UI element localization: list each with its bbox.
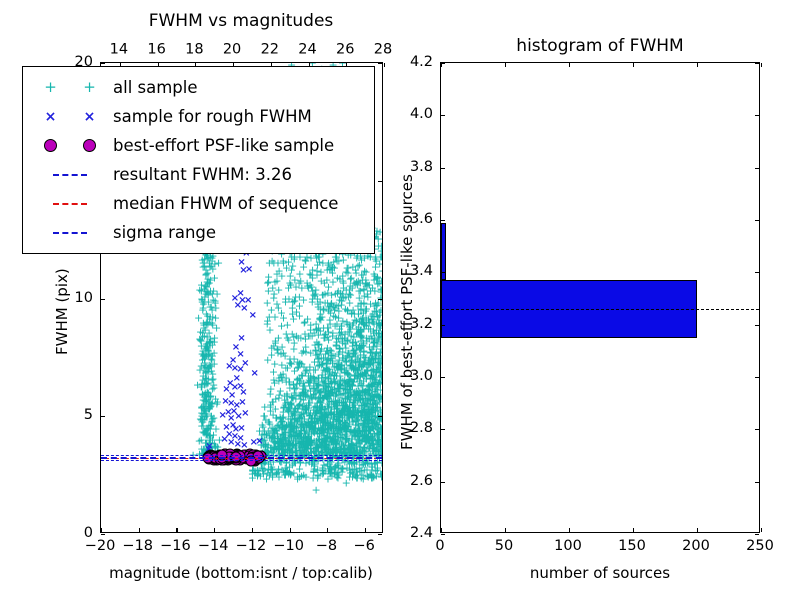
scatter-point: + <box>205 431 214 442</box>
scatter-point: + <box>281 428 290 439</box>
scatter-point: + <box>267 427 276 438</box>
scatter-point: + <box>353 431 362 442</box>
scatter-point: + <box>360 442 369 453</box>
scatter-point: + <box>204 423 213 434</box>
scatter-point: + <box>204 404 213 415</box>
scatter-point: + <box>305 330 314 341</box>
scatter-point: + <box>283 319 292 330</box>
scatter-point: + <box>319 430 328 441</box>
scatter-point: + <box>290 254 299 265</box>
scatter-point: + <box>314 322 323 333</box>
scatter-point: + <box>379 320 382 331</box>
scatter-point: + <box>297 415 306 426</box>
scatter-point: + <box>203 273 212 284</box>
scatter-point: + <box>281 467 290 478</box>
scatter-point: + <box>291 404 300 415</box>
scatter-point: + <box>328 358 337 369</box>
scatter-point: + <box>294 407 303 418</box>
scatter-point: + <box>376 292 382 303</box>
scatter-point: + <box>270 378 279 389</box>
scatter-point: + <box>200 412 209 423</box>
scatter-point: + <box>346 384 355 395</box>
scatter-point: + <box>343 412 352 423</box>
scatter-point: + <box>376 425 382 436</box>
scatter-point: + <box>313 298 322 309</box>
scatter-point: + <box>305 398 314 409</box>
scatter-point: + <box>324 374 333 385</box>
scatter-point: + <box>351 351 360 362</box>
scatter-point: + <box>352 341 361 352</box>
scatter-point: + <box>207 398 216 409</box>
scatter-point: + <box>198 417 207 428</box>
scatter-point: + <box>282 420 291 431</box>
scatter-point: + <box>351 358 360 369</box>
scatter-point: + <box>292 433 301 444</box>
scatter-point: + <box>362 464 371 475</box>
scatter-point: + <box>369 443 378 454</box>
scatter-point: + <box>337 300 346 311</box>
scatter-point: + <box>342 427 351 438</box>
scatter-point: + <box>294 433 303 444</box>
scatter-point: + <box>345 285 354 296</box>
hist-y-tick <box>755 115 759 116</box>
scatter-point: + <box>309 472 318 483</box>
scatter-point: + <box>376 226 382 237</box>
scatter-point: + <box>321 419 330 430</box>
scatter-point: + <box>206 334 215 345</box>
scatter-point: + <box>317 343 326 354</box>
scatter-point: + <box>304 438 313 449</box>
scatter-point: + <box>305 378 314 389</box>
scatter-point: + <box>348 388 357 399</box>
scatter-point: + <box>371 466 380 477</box>
scatter-point: + <box>333 429 342 440</box>
scatter-point: + <box>325 388 334 399</box>
scatter-point: + <box>285 357 294 368</box>
scatter-point: + <box>279 430 288 441</box>
scatter-point: + <box>307 428 316 439</box>
scatter-point: + <box>368 432 377 443</box>
scatter-point: + <box>352 473 361 484</box>
scatter-point: + <box>301 384 310 395</box>
scatter-point: + <box>372 419 381 430</box>
scatter-point: + <box>357 379 366 390</box>
legend-symbol-plus-icon: ++ <box>31 73 109 102</box>
scatter-point: + <box>312 415 321 426</box>
scatter-point: + <box>193 380 202 391</box>
scatter-point: + <box>310 384 319 395</box>
scatter-point: + <box>323 392 332 403</box>
scatter-point: + <box>349 444 358 455</box>
x-tick-label-bottom: −10 <box>273 539 304 554</box>
scatter-point: + <box>315 429 324 440</box>
scatter-point: + <box>360 368 369 379</box>
scatter-point: + <box>202 425 211 436</box>
scatter-point: + <box>338 338 347 349</box>
scatter-point: + <box>328 388 337 399</box>
hist-y-tick-label: 3.6 <box>410 212 433 227</box>
scatter-point: × <box>237 258 245 268</box>
scatter-point: + <box>310 401 319 412</box>
scatter-point: + <box>349 377 358 388</box>
scatter-point: + <box>282 263 291 274</box>
scatter-point: + <box>279 411 288 422</box>
scatter-point: + <box>294 361 303 372</box>
scatter-point: + <box>198 416 207 427</box>
scatter-point: + <box>347 437 356 448</box>
scatter-point: + <box>196 326 205 337</box>
scatter-point: + <box>198 355 207 366</box>
scatter-point: + <box>298 400 307 411</box>
scatter-point: + <box>269 428 278 439</box>
scatter-point: × <box>236 289 244 299</box>
scatter-point: + <box>276 413 285 424</box>
scatter-point: + <box>367 473 376 484</box>
scatter-point: + <box>315 425 324 436</box>
hist-y-tick <box>755 534 759 535</box>
scatter-point: + <box>378 374 382 385</box>
scatter-point: + <box>316 418 325 429</box>
scatter-point: + <box>203 345 212 356</box>
scatter-point: + <box>301 405 310 416</box>
scatter-point: + <box>334 385 343 396</box>
scatter-point: + <box>273 347 282 358</box>
hist-y-tick <box>755 325 759 326</box>
scatter-point: + <box>366 423 375 434</box>
scatter-point: + <box>342 356 351 367</box>
scatter-point: + <box>375 306 382 317</box>
scatter-point: + <box>368 439 377 450</box>
scatter-point: + <box>329 399 338 410</box>
scatter-point: + <box>367 432 376 443</box>
scatter-point: + <box>351 390 360 401</box>
hist-x-tick <box>633 63 634 67</box>
scatter-point: + <box>207 304 216 315</box>
scatter-point: + <box>364 404 373 415</box>
scatter-point: + <box>293 374 302 385</box>
scatter-point: + <box>352 389 361 400</box>
scatter-point: + <box>293 430 302 441</box>
x-tick-bottom <box>139 528 140 532</box>
scatter-point: + <box>348 416 357 427</box>
scatter-point: + <box>374 360 382 371</box>
scatter-point: + <box>323 432 332 443</box>
scatter-point: + <box>303 281 312 292</box>
scatter-point: + <box>367 365 376 376</box>
scatter-point: + <box>211 297 220 308</box>
scatter-point: + <box>297 431 306 442</box>
scatter-point: + <box>292 440 301 451</box>
scatter-point: + <box>322 381 331 392</box>
scatter-point: + <box>377 426 382 437</box>
scatter-point: + <box>369 312 378 323</box>
scatter-point: + <box>316 409 325 420</box>
scatter-point: + <box>332 406 341 417</box>
scatter-point: + <box>266 406 275 417</box>
scatter-point: + <box>288 260 297 271</box>
scatter-point: + <box>205 403 214 414</box>
scatter-point: + <box>318 437 327 448</box>
scatter-point: + <box>306 435 315 446</box>
x-tick-bottom <box>101 528 102 532</box>
scatter-point: + <box>336 464 345 475</box>
scatter-point: + <box>291 436 300 447</box>
scatter-point: + <box>345 289 354 300</box>
scatter-point: + <box>367 403 376 414</box>
scatter-point: + <box>373 273 382 284</box>
scatter-point: + <box>363 396 372 407</box>
scatter-point: + <box>337 446 346 457</box>
scatter-point: + <box>313 379 322 390</box>
scatter-point: + <box>330 370 339 381</box>
scatter-point: + <box>377 423 382 434</box>
scatter-point: + <box>309 377 318 388</box>
scatter-point: + <box>201 351 210 362</box>
scatter-point: + <box>330 409 339 420</box>
scatter-point: + <box>292 306 301 317</box>
x-tick-label-top: 28 <box>374 43 392 58</box>
scatter-point: + <box>304 331 313 342</box>
scatter-point: + <box>366 310 375 321</box>
scatter-point: + <box>293 356 302 367</box>
scatter-point: + <box>319 353 328 364</box>
scatter-point: + <box>360 414 369 425</box>
scatter-point: + <box>313 428 322 439</box>
scatter-point: + <box>365 316 374 327</box>
scatter-point: + <box>351 265 360 276</box>
scatter-point: + <box>340 409 349 420</box>
scatter-point: + <box>350 405 359 416</box>
scatter-point: + <box>362 278 371 289</box>
scatter-point: + <box>207 410 216 421</box>
scatter-point: + <box>348 379 357 390</box>
scatter-point: + <box>281 432 290 443</box>
scatter-point: + <box>269 258 278 269</box>
scatter-point: + <box>323 322 332 333</box>
scatter-point: + <box>299 424 308 435</box>
scatter-point: + <box>369 438 378 449</box>
scatter-point: + <box>345 442 354 453</box>
scatter-point: + <box>327 464 336 475</box>
scatter-point: + <box>338 413 347 424</box>
scatter-point: + <box>203 343 212 354</box>
scatter-point: + <box>283 397 292 408</box>
scatter-point: + <box>341 421 350 432</box>
scatter-point: + <box>324 399 333 410</box>
scatter-point: + <box>204 296 213 307</box>
scatter-point: + <box>364 425 373 436</box>
scatter-point: + <box>337 439 346 450</box>
scatter-point: + <box>275 436 284 447</box>
scatter-point: + <box>354 438 363 449</box>
scatter-point: + <box>291 291 300 302</box>
scatter-point: + <box>336 364 345 375</box>
scatter-point: + <box>353 405 362 416</box>
scatter-point: + <box>364 421 373 432</box>
scatter-point: + <box>288 446 297 457</box>
y-tick-label: 0 <box>84 526 93 541</box>
scatter-point: + <box>359 405 368 416</box>
scatter-point: + <box>198 262 207 273</box>
scatter-point: + <box>319 365 328 376</box>
scatter-point: + <box>330 462 339 473</box>
scatter-point: + <box>203 366 212 377</box>
scatter-point: + <box>267 443 276 454</box>
scatter-point: + <box>363 389 372 400</box>
scatter-point: + <box>345 397 354 408</box>
scatter-point: + <box>321 387 330 398</box>
scatter-point: × <box>236 382 244 392</box>
scatter-point: + <box>359 398 368 409</box>
scatter-point: + <box>323 381 332 392</box>
scatter-point: + <box>203 386 212 397</box>
scatter-point: + <box>203 276 212 287</box>
scatter-point: + <box>203 410 212 421</box>
scatter-point: + <box>290 421 299 432</box>
scatter-point: + <box>251 467 260 478</box>
scatter-point: + <box>253 469 262 480</box>
scatter-point: + <box>368 396 377 407</box>
scatter-point: + <box>353 470 362 481</box>
scatter-point: + <box>325 463 334 474</box>
scatter-point: + <box>210 336 219 347</box>
scatter-point: + <box>271 394 280 405</box>
scatter-point: + <box>321 409 330 420</box>
scatter-point: + <box>284 468 293 479</box>
scatter-point: + <box>336 432 345 443</box>
scatter-point: + <box>313 259 322 270</box>
scatter-point: + <box>210 348 219 359</box>
scatter-point: + <box>332 413 341 424</box>
scatter-point: + <box>363 392 372 403</box>
scatter-point: + <box>203 423 212 434</box>
scatter-point: + <box>283 440 292 451</box>
scatter-point: + <box>267 349 276 360</box>
scatter-point: + <box>374 378 382 389</box>
scatter-point: + <box>373 402 382 413</box>
scatter-point: + <box>324 281 333 292</box>
scatter-point: + <box>328 356 337 367</box>
scatter-point: + <box>312 266 321 277</box>
scatter-point: + <box>194 312 203 323</box>
scatter-point: + <box>276 369 285 380</box>
scatter-point: + <box>342 435 351 446</box>
scatter-point: + <box>325 390 334 401</box>
scatter-point: + <box>334 406 343 417</box>
scatter-point: + <box>324 258 333 269</box>
scatter-point: + <box>338 352 347 363</box>
scatter-point: + <box>275 390 284 401</box>
scatter-point: + <box>318 392 327 403</box>
scatter-point: + <box>331 391 340 402</box>
scatter-point: + <box>286 427 295 438</box>
scatter-x-axis-label: magnitude (bottom:isnt / top:calib) <box>109 566 373 581</box>
scatter-point: + <box>313 340 322 351</box>
scatter-point: + <box>365 407 374 418</box>
scatter-point: × <box>231 364 239 374</box>
scatter-point: + <box>198 302 207 313</box>
scatter-point: + <box>308 438 317 449</box>
scatter-point: + <box>297 441 306 452</box>
scatter-point: + <box>301 255 310 266</box>
scatter-point: + <box>344 348 353 359</box>
scatter-y-axis-label: FWHM (pix) <box>55 268 70 355</box>
scatter-point: + <box>336 375 345 386</box>
scatter-point: + <box>331 311 340 322</box>
scatter-point: + <box>277 372 286 383</box>
scatter-point: + <box>284 407 293 418</box>
scatter-point: + <box>352 414 361 425</box>
scatter-point: + <box>362 425 371 436</box>
scatter-point: + <box>200 415 209 426</box>
scatter-point: + <box>299 377 308 388</box>
scatter-point: + <box>318 370 327 381</box>
scatter-point: + <box>300 329 309 340</box>
scatter-point: + <box>377 245 382 256</box>
scatter-point: + <box>353 446 362 457</box>
scatter-point: + <box>293 374 302 385</box>
scatter-point: + <box>372 336 381 347</box>
scatter-point: + <box>317 435 326 446</box>
scatter-point: + <box>310 413 319 424</box>
scatter-point: + <box>363 413 372 424</box>
scatter-point: + <box>318 424 327 435</box>
scatter-point: + <box>365 442 374 453</box>
scatter-point: + <box>329 444 338 455</box>
scatter-point: + <box>295 398 304 409</box>
scatter-point: + <box>262 473 271 484</box>
scatter-point: + <box>215 435 224 446</box>
scatter-point: + <box>348 403 357 414</box>
scatter-point: + <box>203 316 212 327</box>
scatter-point: + <box>373 334 382 345</box>
scatter-point: + <box>317 372 326 383</box>
scatter-point: + <box>373 412 382 423</box>
scatter-point: + <box>343 267 352 278</box>
scatter-point: + <box>373 446 382 457</box>
scatter-point: + <box>198 390 207 401</box>
scatter-point: + <box>313 406 322 417</box>
scatter-point: + <box>358 469 367 480</box>
scatter-point: + <box>208 383 217 394</box>
scatter-point: + <box>286 423 295 434</box>
scatter-point: + <box>314 414 323 425</box>
scatter-point: + <box>355 355 364 366</box>
scatter-point: + <box>296 438 305 449</box>
scatter-point: + <box>355 390 364 401</box>
scatter-point: + <box>372 319 381 330</box>
scatter-point: + <box>210 272 219 283</box>
hist-x-tick <box>697 528 698 532</box>
scatter-point: + <box>333 467 342 478</box>
scatter-point: + <box>338 346 347 357</box>
scatter-point: + <box>354 369 363 380</box>
scatter-point: + <box>327 421 336 432</box>
scatter-point: + <box>367 404 376 415</box>
hist-x-tick-label: 50 <box>495 539 513 554</box>
scatter-point: + <box>318 257 327 268</box>
scatter-point: + <box>376 358 382 369</box>
scatter-point: + <box>349 398 358 409</box>
scatter-point: + <box>372 328 381 339</box>
scatter-point: + <box>369 354 378 365</box>
scatter-point: + <box>299 423 308 434</box>
scatter-point: + <box>322 362 331 373</box>
scatter-point: + <box>359 420 368 431</box>
scatter-point: + <box>352 339 361 350</box>
scatter-point: + <box>311 419 320 430</box>
scatter-point: + <box>343 407 352 418</box>
